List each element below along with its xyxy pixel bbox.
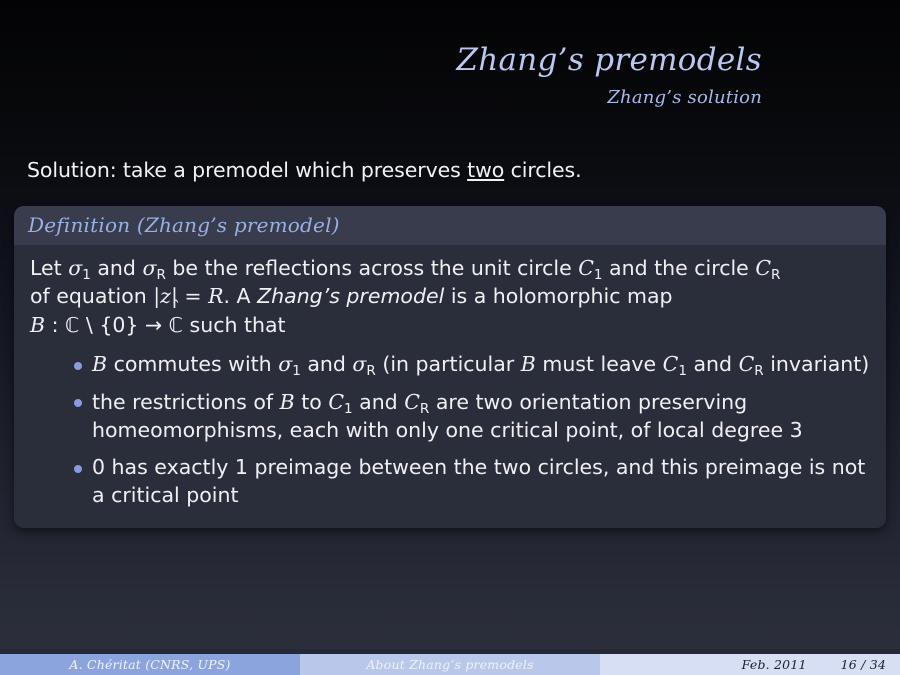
bullet-dot-icon xyxy=(74,399,82,407)
symbol-sigma-1: σ xyxy=(68,256,82,280)
slide-header: Zhang’s premodels Zhang’s solution xyxy=(0,44,762,108)
symbol-sigma-R-sub: R xyxy=(156,267,165,283)
def-setminus: \ xyxy=(79,313,99,337)
symbol-sigma-1-sub: 1 xyxy=(82,267,91,283)
intro-text-before: Solution: take a premodel which preserve… xyxy=(27,158,467,182)
list-item: B commutes with σ1 and σR (in particular… xyxy=(74,351,870,379)
intro-sentence: Solution: take a premodel which preserve… xyxy=(27,158,582,182)
list-item-content: 0 has exactly 1 preimage between the two… xyxy=(92,455,865,507)
def-text-7: is a holomorphic map xyxy=(444,284,672,308)
footer-date: Feb. 2011 xyxy=(742,657,807,672)
footer-author: A. Chéritat (CNRS, UPS) xyxy=(0,654,300,675)
symbol-C-1: C xyxy=(578,256,594,280)
def-text-4: and the circle xyxy=(603,256,756,280)
def-text-3: be the reflections across the unit circl… xyxy=(166,256,578,280)
definition-body: Let σ1 and σR be the reflections across … xyxy=(14,245,886,528)
list-item: the restrictions of B to C1 and CR are t… xyxy=(74,389,870,445)
definition-header: Definition (Zhang’s premodel) xyxy=(14,206,886,245)
def-text-6: . A xyxy=(224,284,258,308)
bullet-dot-icon xyxy=(74,362,82,370)
symbol-C-R: C xyxy=(755,256,771,280)
page-subtitle: Zhang’s solution xyxy=(0,87,762,108)
def-arrow: → xyxy=(138,313,168,337)
definition-paragraph: Let σ1 and σR be the reflections across … xyxy=(30,254,870,339)
symbol-sigma-R: σ xyxy=(142,256,156,280)
intro-text-after: circles. xyxy=(504,158,581,182)
symbol-complex-plane: ℂ xyxy=(65,313,79,337)
hat-accent: ˆ xyxy=(172,300,180,316)
definition-conditions-list: B commutes with σ1 and σR (in particular… xyxy=(30,351,870,510)
footer-talk-title: About Zhang’s premodels xyxy=(300,654,600,675)
list-item-content: the restrictions of B to C1 and CR are t… xyxy=(92,390,803,442)
list-item-content: B commutes with σ1 and σR (in particular… xyxy=(92,352,869,376)
list-item: 0 has exactly 1 preimage between the two… xyxy=(74,454,870,510)
bullet-dot-icon xyxy=(74,465,82,473)
def-text-5: of equation xyxy=(30,284,153,308)
intro-emphasis-two: two xyxy=(467,158,504,182)
slide-footer: A. Chéritat (CNRS, UPS) About Zhang’s pr… xyxy=(0,654,900,675)
def-text-2: and xyxy=(91,256,143,280)
symbol-C-1-sub: 1 xyxy=(594,267,603,283)
presentation-slide: Zhang’s premodels Zhang’s solution Solut… xyxy=(0,0,900,675)
footer-page-number: 16 / 34 xyxy=(841,657,886,672)
symbol-C-R-sub: R xyxy=(771,267,780,283)
set-zero: {0} xyxy=(99,313,138,337)
symbol-riemann-sphere: ˆℂ xyxy=(169,311,183,339)
definition-block: Definition (Zhang’s premodel) Let σ1 and… xyxy=(14,206,886,528)
equation-modulus-z: |z| = R xyxy=(153,284,223,308)
symbol-B: B xyxy=(30,313,45,337)
def-text-1: Let xyxy=(30,256,68,280)
page-title: Zhang’s premodels xyxy=(0,44,762,77)
definition-title: Definition (Zhang’s premodel) xyxy=(28,213,340,237)
def-text-8: such that xyxy=(183,313,286,337)
footer-meta: Feb. 2011 16 / 34 xyxy=(600,654,900,675)
term-zhangs-premodel: Zhang’s premodel xyxy=(257,284,444,308)
def-colon: : xyxy=(45,313,65,337)
